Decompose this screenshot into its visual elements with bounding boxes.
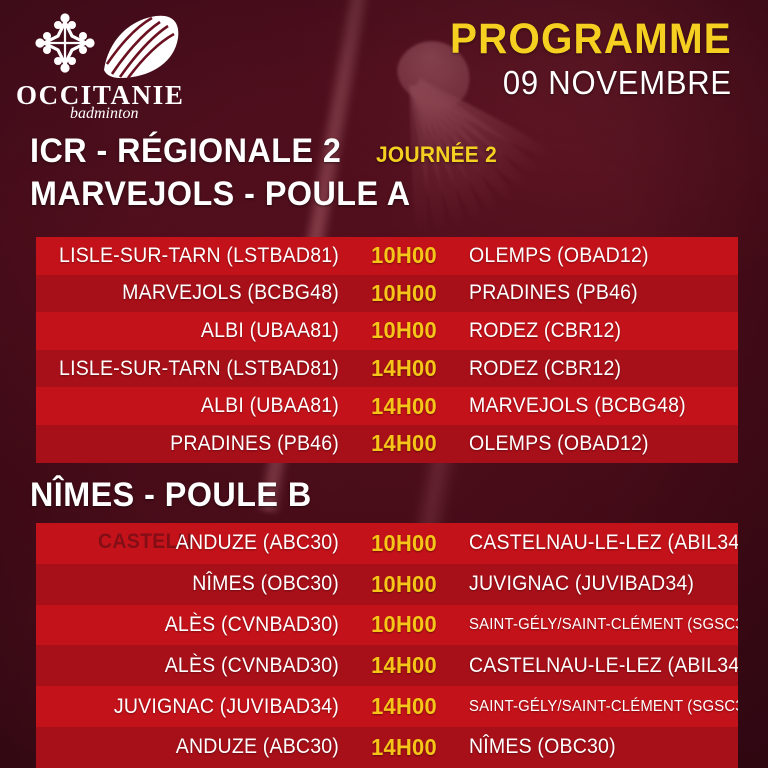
table-row: LISLE-SUR-TARN (LSTBAD81)10H00OLEMPS (OB… <box>36 237 738 275</box>
logo-artwork: OCCITANIE badminton <box>8 12 198 120</box>
home-team: LISLE-SUR-TARN (LSTBAD81) <box>58 244 352 268</box>
home-team: JUVIGNAC (JUVIBAD34) <box>58 695 352 719</box>
away-team: PRADINES (PB46) <box>456 281 718 305</box>
occitanie-badminton-logo: OCCITANIE badminton <box>8 12 198 120</box>
away-team: OLEMPS (OBAD12) <box>456 432 718 456</box>
competition-title: ICR - RÉGIONALE 2 <box>30 132 341 171</box>
home-team: MARVEJOLS (BCBG48) <box>58 281 352 305</box>
away-team: OLEMPS (OBAD12) <box>456 244 718 268</box>
group-b-title: NÎMES - POULE B <box>30 476 312 515</box>
home-team: ALÈS (CVNBAD30) <box>58 654 352 678</box>
match-time: 10H00 <box>355 242 454 269</box>
away-team: RODEZ (CBR12) <box>456 319 718 343</box>
table-row: PRADINES (PB46)14H00OLEMPS (OBAD12) <box>36 425 738 463</box>
page-title: PROGRAMME <box>450 18 732 62</box>
home-team: LISLE-SUR-TARN (LSTBAD81) <box>58 357 352 381</box>
home-team: PRADINES (PB46) <box>58 432 352 456</box>
match-time: 14H00 <box>355 693 454 720</box>
table-row: LISLE-SUR-TARN (LSTBAD81)14H00RODEZ (CBR… <box>36 350 738 388</box>
away-team: SAINT-GÉLY/SAINT-CLÉMENT (SGSC34) <box>456 616 738 634</box>
match-time: 14H00 <box>355 393 454 420</box>
away-team: CASTELNAU-LE-LEZ (ABIL34) <box>456 531 738 555</box>
match-time: 10H00 <box>355 611 454 638</box>
match-time: 14H00 <box>355 734 454 761</box>
away-team: MARVEJOLS (BCBG48) <box>456 394 718 418</box>
away-team: CASTELNAU-LE-LEZ (ABIL34) <box>456 654 738 678</box>
match-time: 10H00 <box>355 530 454 557</box>
table-row: MARVEJOLS (BCBG48)10H00PRADINES (PB46) <box>36 275 738 313</box>
match-time: 10H00 <box>355 317 454 344</box>
table-row: ALBI (UBAA81)14H00MARVEJOLS (BCBG48) <box>36 387 738 425</box>
table-row: ALBI (UBAA81)10H00RODEZ (CBR12) <box>36 312 738 350</box>
table-row: CASTELNANDUZE (ABC30)10H00CASTELNAU-LE-L… <box>36 523 738 564</box>
competition-heading: ICR - RÉGIONALE 2 JOURNÉE 2 MARVEJOLS - … <box>30 132 503 214</box>
matchday-badge: JOURNÉE 2 <box>376 142 497 168</box>
match-time: 10H00 <box>355 571 454 598</box>
home-team: NÎMES (OBC30) <box>58 572 352 596</box>
program-date: 09 NOVEMBRE <box>450 62 732 103</box>
match-time: 14H00 <box>355 652 454 679</box>
match-time: 14H00 <box>355 355 454 382</box>
home-team: ALBI (UBAA81) <box>58 319 352 343</box>
home-team: ALBI (UBAA81) <box>58 394 352 418</box>
home-team: ALÈS (CVNBAD30) <box>58 613 352 637</box>
match-time: 10H00 <box>355 280 454 307</box>
table-row: NÎMES (OBC30)10H00JUVIGNAC (JUVIBAD34) <box>36 564 738 605</box>
header-block: PROGRAMME 09 NOVEMBRE <box>432 18 732 103</box>
logo-subtitle: badminton <box>70 105 138 120</box>
match-table-poule-b: CASTELNANDUZE (ABC30)10H00CASTELNAU-LE-L… <box>36 523 738 768</box>
home-team: ANDUZE (ABC30) <box>58 735 352 759</box>
group-a-title: MARVEJOLS - POULE A <box>30 175 479 214</box>
table-row: ALÈS (CVNBAD30)10H00SAINT-GÉLY/SAINT-CLÉ… <box>36 605 738 646</box>
away-team: JUVIGNAC (JUVIBAD34) <box>456 572 718 596</box>
home-team: ANDUZE (ABC30) <box>58 531 352 555</box>
table-row: ALÈS (CVNBAD30)14H00CASTELNAU-LE-LEZ (AB… <box>36 645 738 686</box>
away-team: NÎMES (OBC30) <box>456 735 718 759</box>
match-table-poule-a: LISLE-SUR-TARN (LSTBAD81)10H00OLEMPS (OB… <box>36 237 738 463</box>
away-team: SAINT-GÉLY/SAINT-CLÉMENT (SGSC34) <box>456 698 738 716</box>
table-row: JUVIGNAC (JUVIBAD34)14H00SAINT-GÉLY/SAIN… <box>36 686 738 727</box>
match-time: 14H00 <box>355 430 454 457</box>
occitan-cross-icon <box>35 13 94 72</box>
table-row: ANDUZE (ABC30)14H00NÎMES (OBC30) <box>36 727 738 768</box>
away-team: RODEZ (CBR12) <box>456 357 718 381</box>
